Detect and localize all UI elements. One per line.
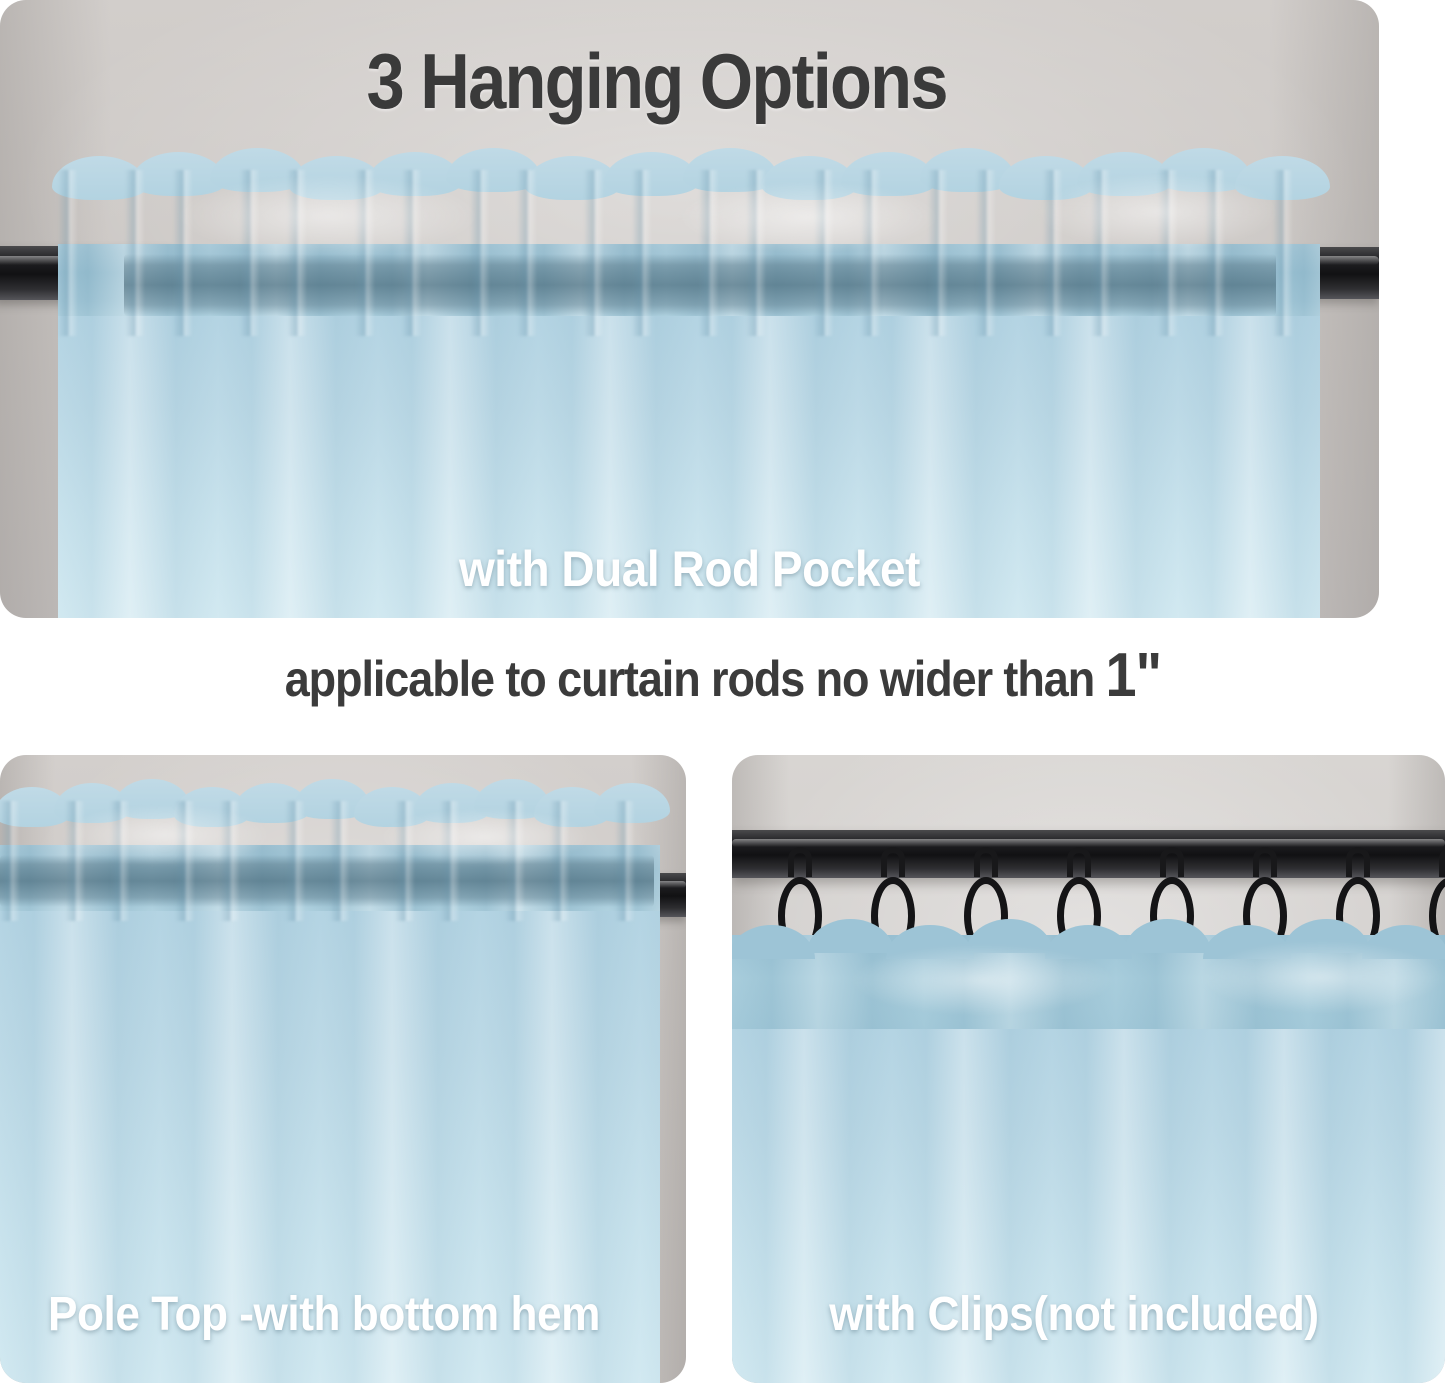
fabric-wave: [1362, 925, 1445, 959]
curtain-top-band: [732, 935, 1445, 1031]
scallop-bump: [594, 783, 670, 823]
caption-pole-top: Pole Top -with bottom hem: [48, 1287, 600, 1342]
fabric-wave: [886, 925, 973, 959]
fabric-wave: [966, 919, 1053, 953]
fabric-wave: [732, 925, 815, 959]
rod-highlight: [732, 839, 1445, 847]
panel-dual-rod-pocket: 3 Hanging Options with Dual Rod Pocket: [0, 0, 1379, 618]
fabric-wave: [1283, 919, 1370, 953]
ring-hook-icon: [788, 847, 812, 877]
page-title-text: 3 Hanging Options: [366, 36, 946, 127]
page-title: 3 Hanging Options: [0, 36, 1313, 127]
ring-hook-icon: [1253, 847, 1277, 877]
ring-hook-icon: [881, 847, 905, 877]
scallop-bump: [1235, 156, 1330, 200]
caption-dual-rod-pocket: with Dual Rod Pocket: [55, 540, 1324, 598]
fabric-wave: [1045, 925, 1132, 959]
applicable-note-text: applicable to curtain rods no wider than…: [284, 640, 1161, 711]
caption-with-clips: with Clips(not included): [829, 1287, 1318, 1342]
ring-hook-icon: [1067, 847, 1091, 877]
fabric-wave: [1203, 925, 1290, 959]
scalloped-edge: [58, 168, 1320, 208]
applicable-note-main: applicable to curtain rods no wider than: [284, 651, 1105, 707]
ring-hook-icon: [1160, 847, 1184, 877]
applicable-note-emphasis: 1": [1105, 641, 1161, 710]
ring-hook-icon: [1346, 847, 1370, 877]
rod-seen-through-sheer: [124, 254, 1276, 316]
applicable-note: applicable to curtain rods no wider than…: [0, 640, 1445, 711]
fabric-wave: [1124, 919, 1211, 953]
ring-hook-icon: [974, 847, 998, 877]
wavy-fabric-edge: [732, 919, 1445, 953]
ring-hook-icon: [1439, 847, 1445, 877]
rod-seen-through-sheer: [0, 855, 654, 907]
fabric-wave: [807, 919, 894, 953]
scalloped-edge: [0, 799, 660, 839]
infographic-canvas: 3 Hanging Options with Dual Rod Pocket a…: [0, 0, 1445, 1393]
